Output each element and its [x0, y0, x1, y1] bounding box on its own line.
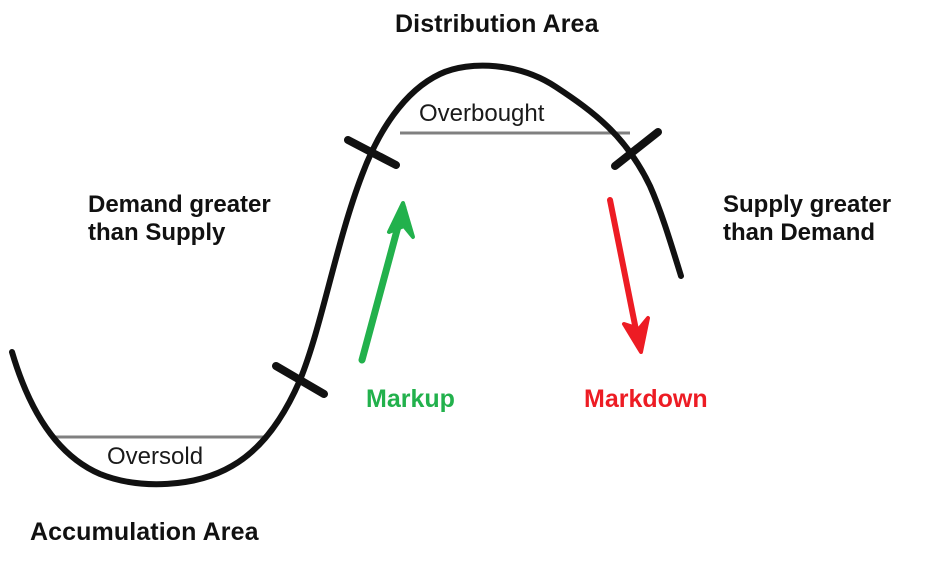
label-demand-greater-than-supply: Demand greater than Supply: [88, 191, 271, 248]
label-supply-greater-than-demand: Supply greater than Demand: [723, 191, 891, 248]
label-accumulation-area: Accumulation Area: [30, 518, 259, 548]
arrow-up-icon-markup: [362, 203, 413, 360]
arrow-down-icon-markdown: [610, 200, 648, 352]
market-cycle-diagram: Distribution Area Accumulation Area Over…: [0, 0, 931, 566]
label-distribution-area: Distribution Area: [395, 10, 599, 40]
market-cycle-chart: [0, 0, 931, 566]
tick-cross-icon-upper-left: [348, 140, 396, 165]
price-cycle-curve: [12, 66, 681, 485]
label-oversold: Oversold: [107, 443, 203, 471]
label-overbought: Overbought: [419, 100, 544, 128]
label-markdown: Markdown: [584, 385, 708, 415]
tick-cross-icon-lower-left: [276, 366, 324, 394]
label-markup: Markup: [366, 385, 455, 415]
